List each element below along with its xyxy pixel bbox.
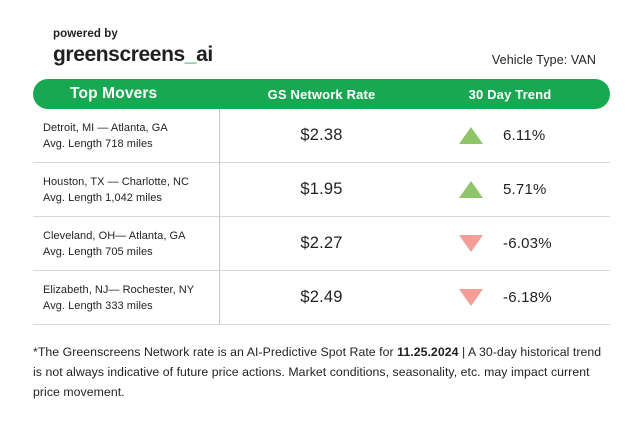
lane-name: Houston, TX — Charlotte, NC <box>43 174 219 190</box>
column-divider <box>219 109 220 325</box>
brand-name-main: greenscreens <box>53 43 185 66</box>
trend-cell: -6.03% <box>424 235 610 252</box>
vehicle-type-label: Vehicle Type: VAN <box>492 53 596 67</box>
lane-cell: Elizabeth, NJ— Rochester, NY Avg. Length… <box>33 282 219 314</box>
table-header-row: Top Movers GS Network Rate 30 Day Trend <box>33 79 610 109</box>
gs-network-rate-value: $2.38 <box>219 126 424 145</box>
trend-value: -6.03% <box>503 235 565 252</box>
brand-block: powered by greenscreens_ai <box>53 27 213 67</box>
trend-value: 5.71% <box>503 181 565 198</box>
brand-name: greenscreens_ai <box>53 42 213 67</box>
lane-avg-length: Avg. Length 705 miles <box>43 244 219 260</box>
triangle-down-icon <box>459 289 483 306</box>
footnote: *The Greenscreens Network rate is an AI-… <box>33 342 613 402</box>
triangle-up-icon <box>459 181 483 198</box>
trend-value: 6.11% <box>503 127 565 144</box>
table-row: Detroit, MI — Atlanta, GA Avg. Length 71… <box>33 109 610 163</box>
column-header-top-movers: Top Movers <box>33 85 219 103</box>
trend-value: -6.18% <box>503 289 565 306</box>
lane-cell: Cleveland, OH— Atlanta, GA Avg. Length 7… <box>33 228 219 260</box>
trend-cell: 5.71% <box>424 181 610 198</box>
lane-name: Elizabeth, NJ— Rochester, NY <box>43 282 219 298</box>
lane-avg-length: Avg. Length 333 miles <box>43 298 219 314</box>
top-movers-card: powered by greenscreens_ai Vehicle Type:… <box>0 0 640 428</box>
lane-avg-length: Avg. Length 1,042 miles <box>43 190 219 206</box>
table-row: Houston, TX — Charlotte, NC Avg. Length … <box>33 163 610 217</box>
powered-by-label: powered by <box>53 27 213 41</box>
lane-cell: Detroit, MI — Atlanta, GA Avg. Length 71… <box>33 120 219 152</box>
trend-cell: -6.18% <box>424 289 610 306</box>
triangle-up-icon <box>459 127 483 144</box>
column-header-30-day-trend: 30 Day Trend <box>424 87 610 102</box>
gs-network-rate-value: $1.95 <box>219 180 424 199</box>
table-row: Cleveland, OH— Atlanta, GA Avg. Length 7… <box>33 217 610 271</box>
trend-cell: 6.11% <box>424 127 610 144</box>
footnote-part-1: *The Greenscreens Network rate is an AI-… <box>33 345 397 359</box>
table-body: Detroit, MI — Atlanta, GA Avg. Length 71… <box>33 109 610 325</box>
top-movers-table: Top Movers GS Network Rate 30 Day Trend … <box>33 79 610 325</box>
gs-network-rate-value: $2.49 <box>219 288 424 307</box>
triangle-down-icon <box>459 235 483 252</box>
brand-name-suffix: ai <box>196 43 213 66</box>
lane-name: Cleveland, OH— Atlanta, GA <box>43 228 219 244</box>
brand-name-underscore: _ <box>185 43 196 66</box>
column-header-gs-network-rate: GS Network Rate <box>219 87 424 102</box>
table-row: Elizabeth, NJ— Rochester, NY Avg. Length… <box>33 271 610 325</box>
lane-avg-length: Avg. Length 718 miles <box>43 136 219 152</box>
lane-name: Detroit, MI — Atlanta, GA <box>43 120 219 136</box>
lane-cell: Houston, TX — Charlotte, NC Avg. Length … <box>33 174 219 206</box>
gs-network-rate-value: $2.27 <box>219 234 424 253</box>
footnote-date: 11.25.2024 <box>397 345 458 359</box>
